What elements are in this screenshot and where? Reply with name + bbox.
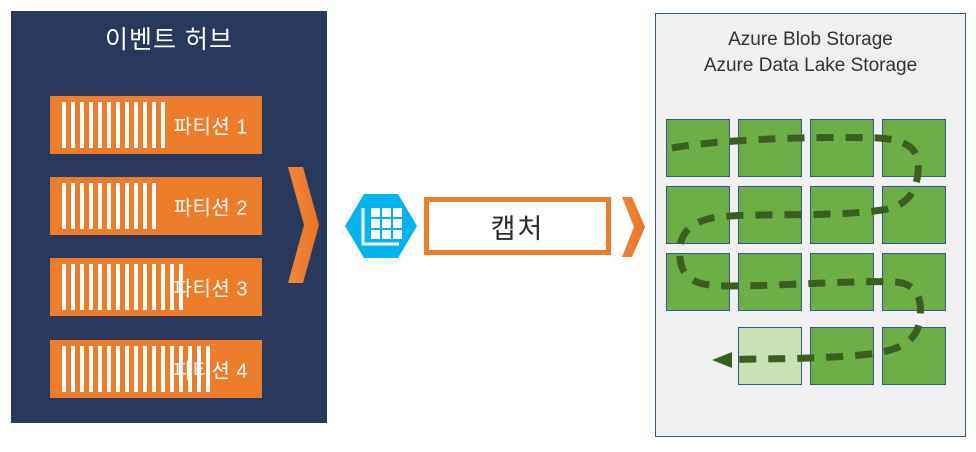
capture-box: 캡처 (424, 197, 611, 255)
storage-title-line2: Azure Data Lake Storage (656, 53, 965, 79)
storage-block (738, 253, 802, 311)
chevron-right-small-icon (620, 196, 648, 258)
partition-label: 파티션 2 (174, 192, 248, 221)
azure-capture-hexagon-icon (343, 188, 419, 264)
storage-block (810, 327, 874, 385)
storage-panel: Azure Blob Storage Azure Data Lake Stora… (655, 13, 966, 437)
storage-title: Azure Blob Storage Azure Data Lake Stora… (656, 27, 965, 78)
event-hub-panel: 이벤트 허브 파티션 1파티션 2파티션 3파티션 4 (11, 11, 327, 423)
partition-label: 파티션 4 (174, 355, 248, 384)
partition-label: 파티션 3 (174, 273, 248, 302)
partition-row: 파티션 4 (50, 340, 262, 398)
storage-block (666, 119, 730, 177)
storage-block (810, 253, 874, 311)
partition-row: 파티션 3 (50, 258, 262, 316)
partition-label: 파티션 1 (174, 111, 248, 140)
storage-title-line1: Azure Blob Storage (656, 27, 965, 53)
partition-row: 파티션 2 (50, 177, 262, 235)
storage-block (666, 253, 730, 311)
partition-stripes-icon (62, 264, 183, 310)
event-hub-title: 이벤트 허브 (11, 27, 327, 55)
storage-block (882, 119, 946, 177)
storage-block (810, 119, 874, 177)
partition-row: 파티션 1 (50, 96, 262, 154)
capture-box-label: 캡처 (491, 207, 545, 246)
storage-block (738, 119, 802, 177)
partition-stripes-icon (62, 102, 165, 148)
storage-block (738, 327, 802, 385)
storage-block (882, 253, 946, 311)
storage-block (666, 186, 730, 244)
chevron-right-large-icon (285, 165, 325, 285)
partition-stripes-icon (62, 183, 156, 229)
storage-block (810, 186, 874, 244)
storage-block (882, 186, 946, 244)
storage-block (738, 186, 802, 244)
storage-block (882, 327, 946, 385)
